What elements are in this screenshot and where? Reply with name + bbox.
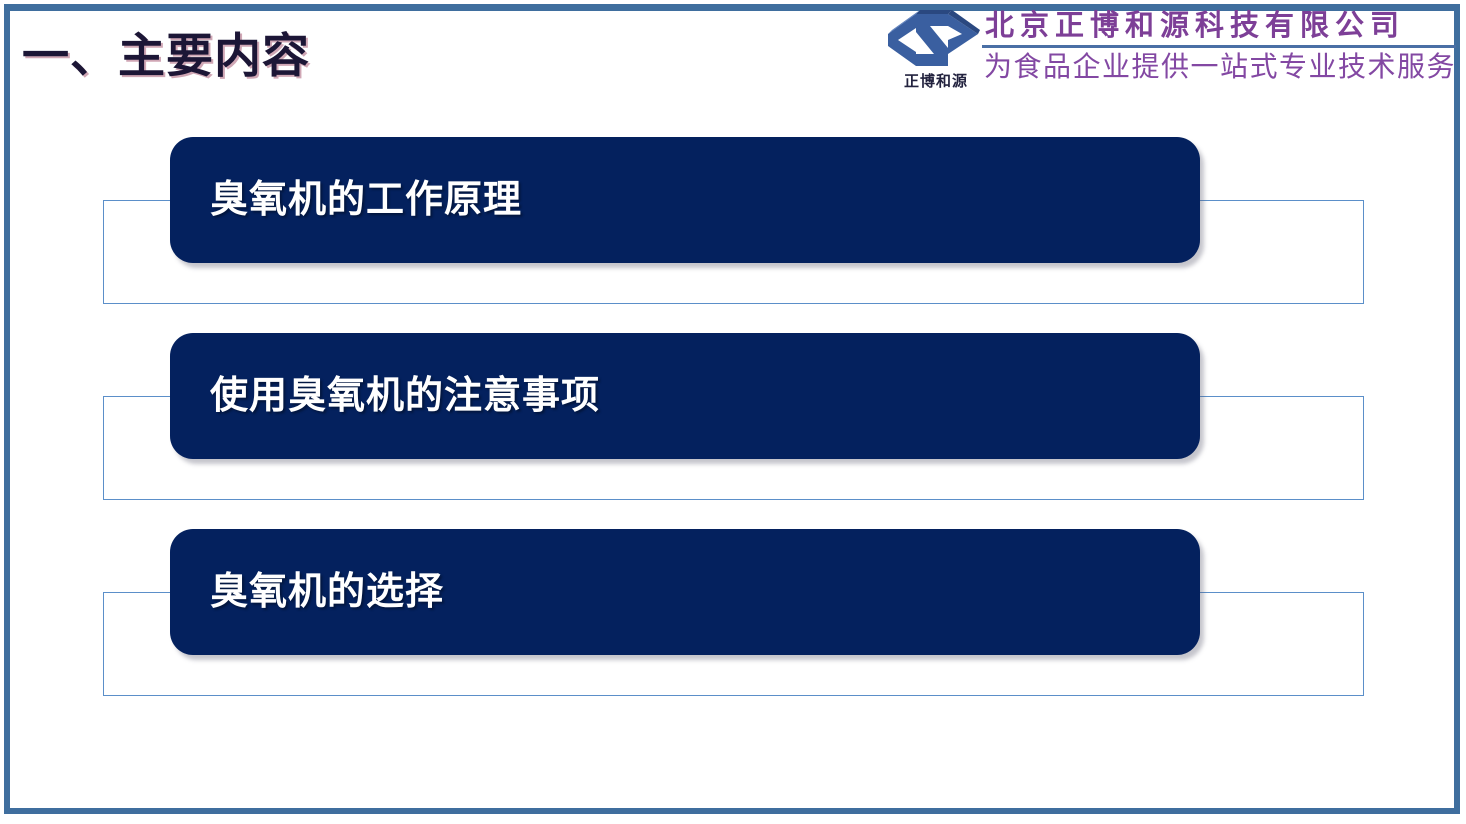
presentation-slide: 一、主要内容 正博和源 北京正博和源科技有限公司 为食品企业提供一站式专业技术服…: [0, 0, 1466, 824]
content-item-card[interactable]: 臭氧机的工作原理: [170, 137, 1200, 263]
content-item-card[interactable]: 臭氧机的选择: [170, 529, 1200, 655]
content-item-label: 臭氧机的选择: [170, 570, 444, 614]
content-list: 臭氧机的工作原理 使用臭氧机的注意事项 臭氧机的选择: [0, 0, 1466, 824]
content-item-label: 使用臭氧机的注意事项: [170, 374, 600, 418]
content-item-label: 臭氧机的工作原理: [170, 178, 522, 222]
content-item-card[interactable]: 使用臭氧机的注意事项: [170, 333, 1200, 459]
